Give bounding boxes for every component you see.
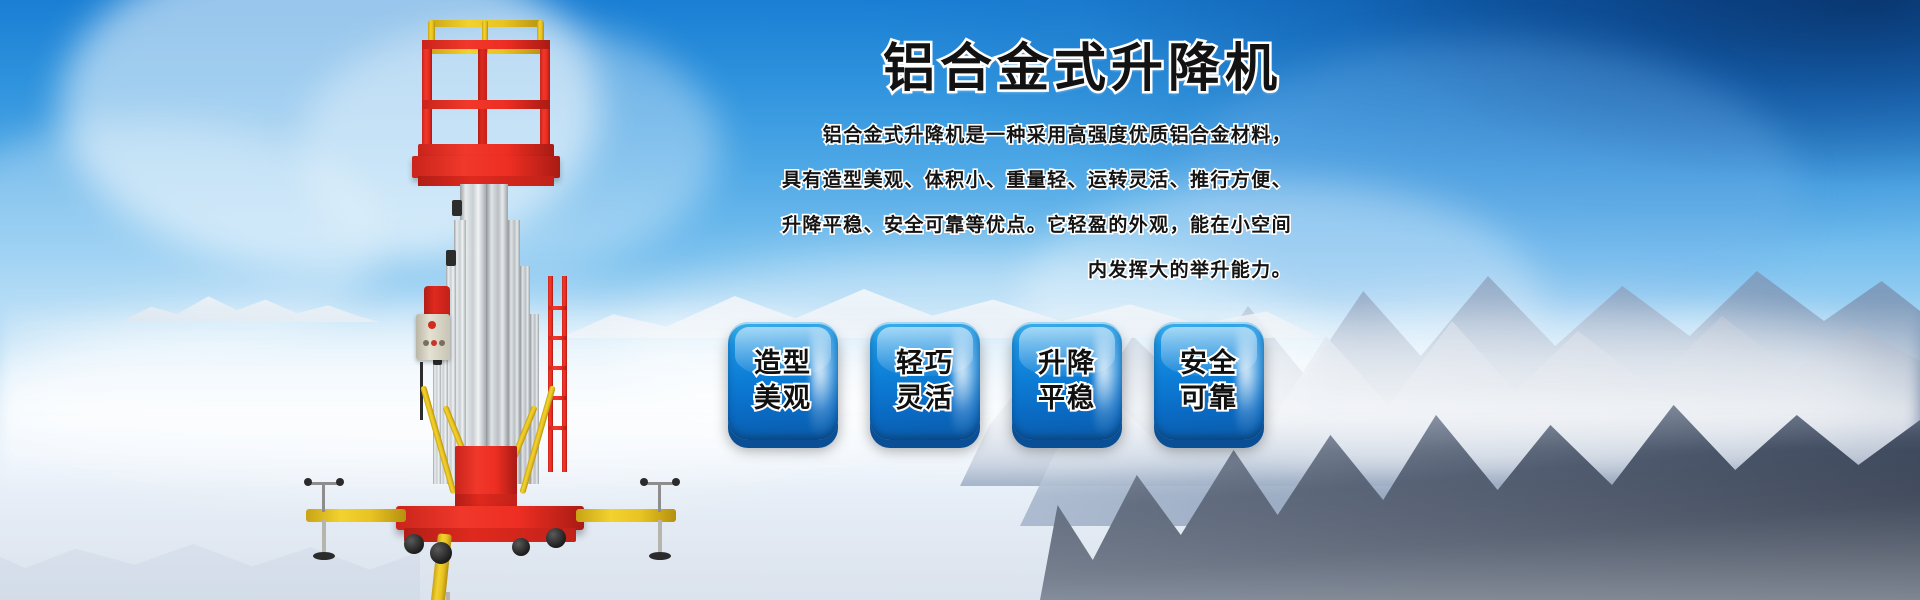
bottom-haze (0, 450, 1920, 600)
outrigger-screw-front (446, 592, 450, 600)
badge-line-1: 轻巧 (896, 346, 954, 381)
description-line: 具有造型美观、体积小、重量轻、运转灵活、推行方便、 (740, 171, 1292, 190)
badge-line-1: 安全 (1180, 346, 1238, 381)
mast-section-3b (520, 266, 530, 484)
feature-badge-lightweight[interactable]: 轻巧 灵活 (870, 322, 980, 440)
outrigger-screw-left (322, 520, 326, 554)
product-illustration (300, 14, 700, 594)
outrigger-knob-right (640, 478, 648, 486)
control-knob (423, 340, 429, 346)
feature-badge-appearance[interactable]: 造型 美观 (728, 322, 838, 440)
counterweight-shadow (455, 494, 517, 506)
mast-clamp (452, 200, 462, 216)
feature-badge-safe-reliable[interactable]: 安全 可靠 (1154, 322, 1264, 440)
emergency-stop-button (428, 321, 436, 329)
outrigger-knob-left2 (336, 478, 344, 486)
ladder-rung (548, 426, 567, 430)
outrigger-mast-right (658, 484, 661, 512)
feature-badge-list: 造型 美观 轻巧 灵活 升降 平稳 安全 可靠 (728, 322, 1264, 440)
description-line: 升降平稳、安全可靠等优点。它轻盈的外观，能在小空间 (740, 216, 1292, 235)
cage-rail-top (422, 40, 550, 49)
wheel-center-right (512, 538, 530, 556)
platform-floor (412, 156, 560, 178)
cage-rail-middle (422, 100, 550, 109)
text-column: 铝合金式升降机 铝合金式升降机是一种采用高强度优质铝合金材料， 具有造型美观、体… (740, 40, 1300, 306)
control-knob (431, 340, 437, 346)
wheel-front-left (404, 534, 424, 554)
wheel-rear-right (546, 528, 566, 548)
mast-clamp (446, 250, 456, 266)
badge-line-2: 灵活 (896, 381, 954, 416)
description-block: 铝合金式升降机是一种采用高强度优质铝合金材料， 具有造型美观、体积小、重量轻、运… (740, 126, 1300, 280)
wheel-center-left (430, 542, 452, 564)
outrigger-foot-right (649, 552, 671, 560)
feature-badge-smooth-lift[interactable]: 升降 平稳 (1012, 322, 1122, 440)
mast-section-inner-right (486, 184, 508, 484)
outrigger-mast-left (322, 484, 325, 512)
outrigger-knob-left (304, 478, 312, 486)
page-title: 铝合金式升降机 (740, 40, 1300, 100)
control-box (416, 314, 450, 360)
outrigger-left (306, 509, 406, 522)
ladder-rung (548, 336, 567, 340)
ladder-rung (548, 306, 567, 310)
chassis-frame (396, 506, 584, 530)
badge-line-1: 造型 (754, 346, 812, 381)
outrigger-foot-left (313, 552, 335, 560)
control-knob (439, 340, 445, 346)
outrigger-screw-right (658, 520, 662, 554)
badge-line-1: 升降 (1038, 346, 1096, 381)
product-banner: 铝合金式升降机 铝合金式升降机是一种采用高强度优质铝合金材料， 具有造型美观、体… (0, 0, 1920, 600)
ladder-rung (548, 366, 567, 370)
description-line: 内发挥大的举升能力。 (740, 261, 1292, 280)
badge-line-2: 美观 (754, 381, 812, 416)
description-line: 铝合金式升降机是一种采用高强度优质铝合金材料， (740, 126, 1292, 145)
badge-line-2: 平稳 (1038, 381, 1096, 416)
outrigger-knob-right2 (672, 478, 680, 486)
badge-line-2: 可靠 (1180, 381, 1238, 416)
